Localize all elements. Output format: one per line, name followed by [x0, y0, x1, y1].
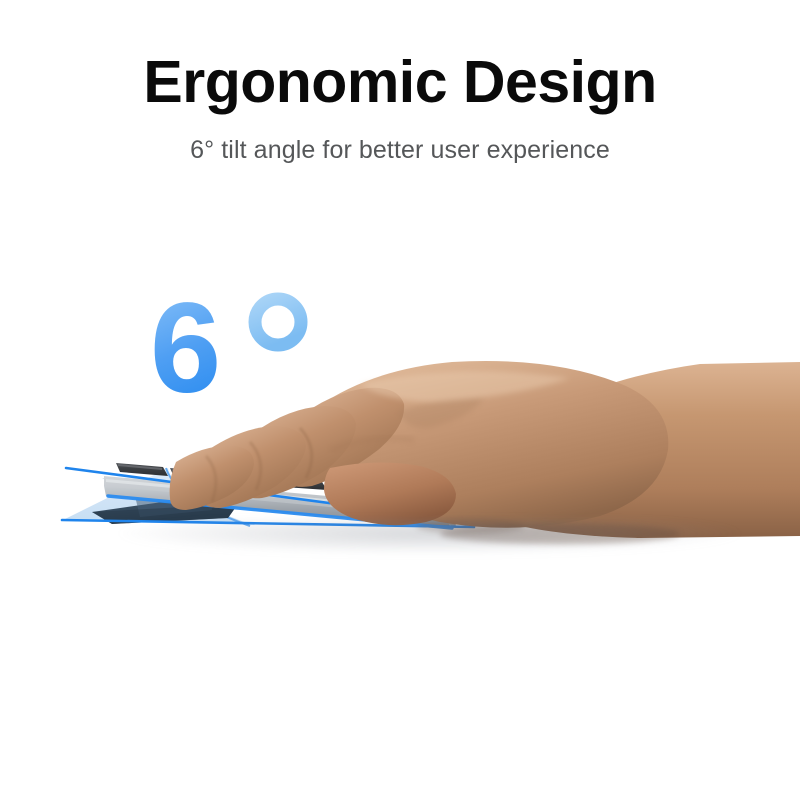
desk-shadow [120, 520, 740, 554]
marketing-banner: Ergonomic Design 6° tilt angle for bette… [0, 0, 800, 800]
hand [170, 361, 800, 544]
page-title: Ergonomic Design [0, 52, 800, 114]
page-subtitle: 6° tilt angle for better user experience [0, 136, 800, 165]
product-photo [0, 300, 800, 620]
